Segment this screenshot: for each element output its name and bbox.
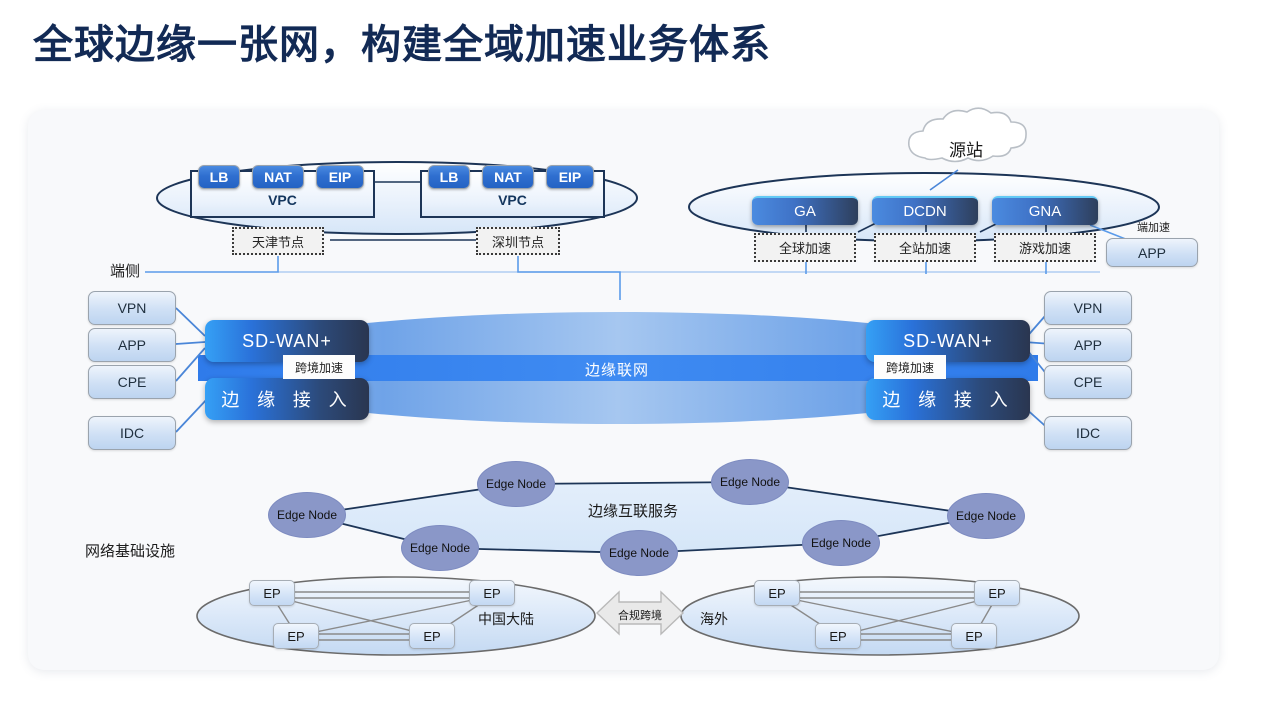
service-nat-tianjin[interactable]: NAT <box>252 165 304 189</box>
edge-node-3[interactable]: Edge Node <box>711 459 789 505</box>
region-tag-tianjin[interactable]: 天津节点 <box>232 227 324 255</box>
origin-cloud-label: 源站 <box>930 136 1002 160</box>
ep-china-3[interactable]: EP <box>273 623 319 649</box>
client-right-idc[interactable]: IDC <box>1044 416 1132 450</box>
service-eip-tianjin[interactable]: EIP <box>316 165 364 189</box>
service-eip-shenzhen[interactable]: EIP <box>546 165 594 189</box>
edge-node-5[interactable]: Edge Node <box>802 520 880 566</box>
edge-node-2[interactable]: Edge Node <box>477 461 555 507</box>
edge-network-band-label: 边缘联网 <box>585 359 649 380</box>
edge-node-4[interactable]: Edge Node <box>947 493 1025 539</box>
client-left-idc[interactable]: IDC <box>88 416 176 450</box>
product-ga[interactable]: GA <box>752 196 858 225</box>
client-left-vpn[interactable]: VPN <box>88 291 176 325</box>
infrastructure-label: 网络基础设施 <box>85 540 175 561</box>
edge-node-7[interactable]: Edge Node <box>401 525 479 571</box>
core-left-edge-access[interactable]: 边 缘 接 入 <box>205 378 369 420</box>
product-caption-ga: 全球加速 <box>754 233 856 262</box>
edge-interconnect-label: 边缘互联服务 <box>588 500 678 521</box>
core-left-cross-border-tag: 跨境加速 <box>283 355 355 379</box>
ep-overseas-3[interactable]: EP <box>815 623 861 649</box>
origin-app-box[interactable]: APP <box>1106 238 1198 267</box>
ep-overseas-1[interactable]: EP <box>754 580 800 606</box>
service-lb-shenzhen[interactable]: LB <box>428 165 470 189</box>
device-accel-label: 端加速 <box>1137 219 1170 235</box>
vpc-label: VPC <box>192 192 373 208</box>
product-gna[interactable]: GNA <box>992 196 1098 225</box>
client-right-vpn[interactable]: VPN <box>1044 291 1132 325</box>
region-label-overseas: 海外 <box>700 609 728 629</box>
edge-node-6[interactable]: Edge Node <box>600 530 678 576</box>
client-left-app[interactable]: APP <box>88 328 176 362</box>
service-nat-shenzhen[interactable]: NAT <box>482 165 534 189</box>
ep-china-1[interactable]: EP <box>249 580 295 606</box>
cross-border-arrow-label: 合规跨境 <box>605 604 675 626</box>
ep-china-4[interactable]: EP <box>409 623 455 649</box>
service-lb-tianjin[interactable]: LB <box>198 165 240 189</box>
ep-overseas-4[interactable]: EP <box>951 623 997 649</box>
core-right-cross-border-tag: 跨境加速 <box>874 355 946 379</box>
client-side-label: 端侧 <box>110 260 140 281</box>
core-right-edge-access[interactable]: 边 缘 接 入 <box>866 378 1030 420</box>
edge-node-1[interactable]: Edge Node <box>268 492 346 538</box>
region-label-china: 中国大陆 <box>478 609 534 629</box>
ep-china-2[interactable]: EP <box>469 580 515 606</box>
region-tag-shenzhen[interactable]: 深圳节点 <box>476 227 560 255</box>
product-dcdn[interactable]: DCDN <box>872 196 978 225</box>
client-right-app[interactable]: APP <box>1044 328 1132 362</box>
diagram-stage: VPC LB NAT EIP VPC LB NAT EIP 天津节点 深圳节点 … <box>0 0 1275 705</box>
ep-overseas-2[interactable]: EP <box>974 580 1020 606</box>
product-caption-gna: 游戏加速 <box>994 233 1096 262</box>
product-caption-dcdn: 全站加速 <box>874 233 976 262</box>
client-left-cpe[interactable]: CPE <box>88 365 176 399</box>
vpc-label: VPC <box>422 192 603 208</box>
client-right-cpe[interactable]: CPE <box>1044 365 1132 399</box>
